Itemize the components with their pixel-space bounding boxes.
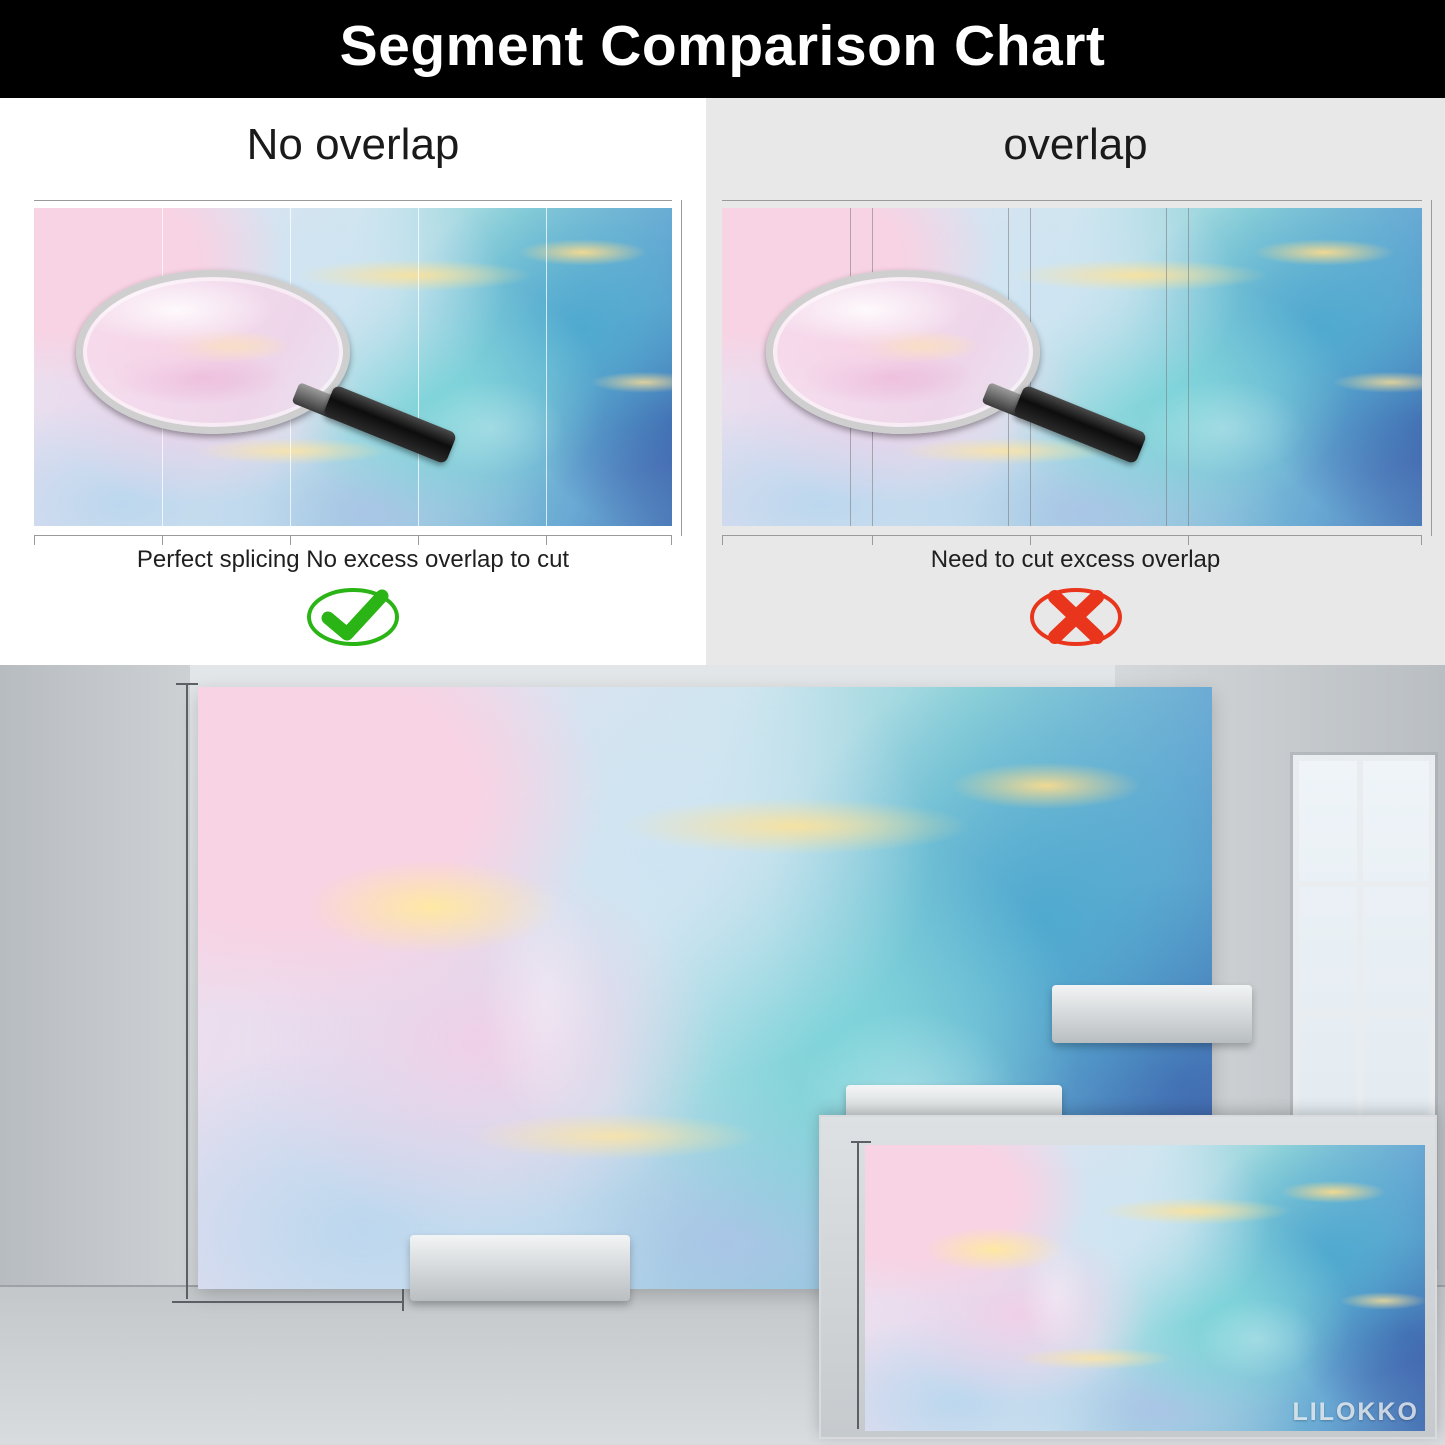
green-check-icon <box>294 584 412 650</box>
inset-closeup: LILOKKO <box>819 1115 1437 1439</box>
page-title: Segment Comparison Chart <box>340 18 1106 81</box>
thumbnail-overlap <box>722 208 1422 526</box>
wall-ledge <box>410 1235 630 1301</box>
dimension-line-vertical <box>186 683 188 1299</box>
room-scene: LILOKKO <box>0 665 1445 1445</box>
inset-mural <box>865 1145 1425 1431</box>
marble-artwork <box>34 208 672 526</box>
thumbnail-no-overlap <box>34 208 672 526</box>
caption-no-overlap: Perfect splicing No excess overlap to cu… <box>0 546 706 574</box>
comparison-section: No overlap <box>0 98 1445 665</box>
caption-overlap: Need to cut excess overlap <box>706 546 1445 574</box>
dimension-line-horizontal <box>172 1301 402 1303</box>
marble-artwork <box>722 208 1422 526</box>
left-wall <box>0 665 190 1325</box>
panel-right-heading: overlap <box>706 120 1445 170</box>
red-cross-icon <box>1017 584 1135 650</box>
product-infographic: Segment Comparison Chart No overlap <box>0 0 1445 1445</box>
watermark: LILOKKO <box>1293 1398 1420 1427</box>
panel-overlap: overlap <box>706 98 1445 665</box>
panel-left-heading: No overlap <box>0 120 706 170</box>
panel-no-overlap: No overlap <box>0 98 706 665</box>
wall-ledge <box>1052 985 1252 1043</box>
title-bar: Segment Comparison Chart <box>0 0 1445 98</box>
